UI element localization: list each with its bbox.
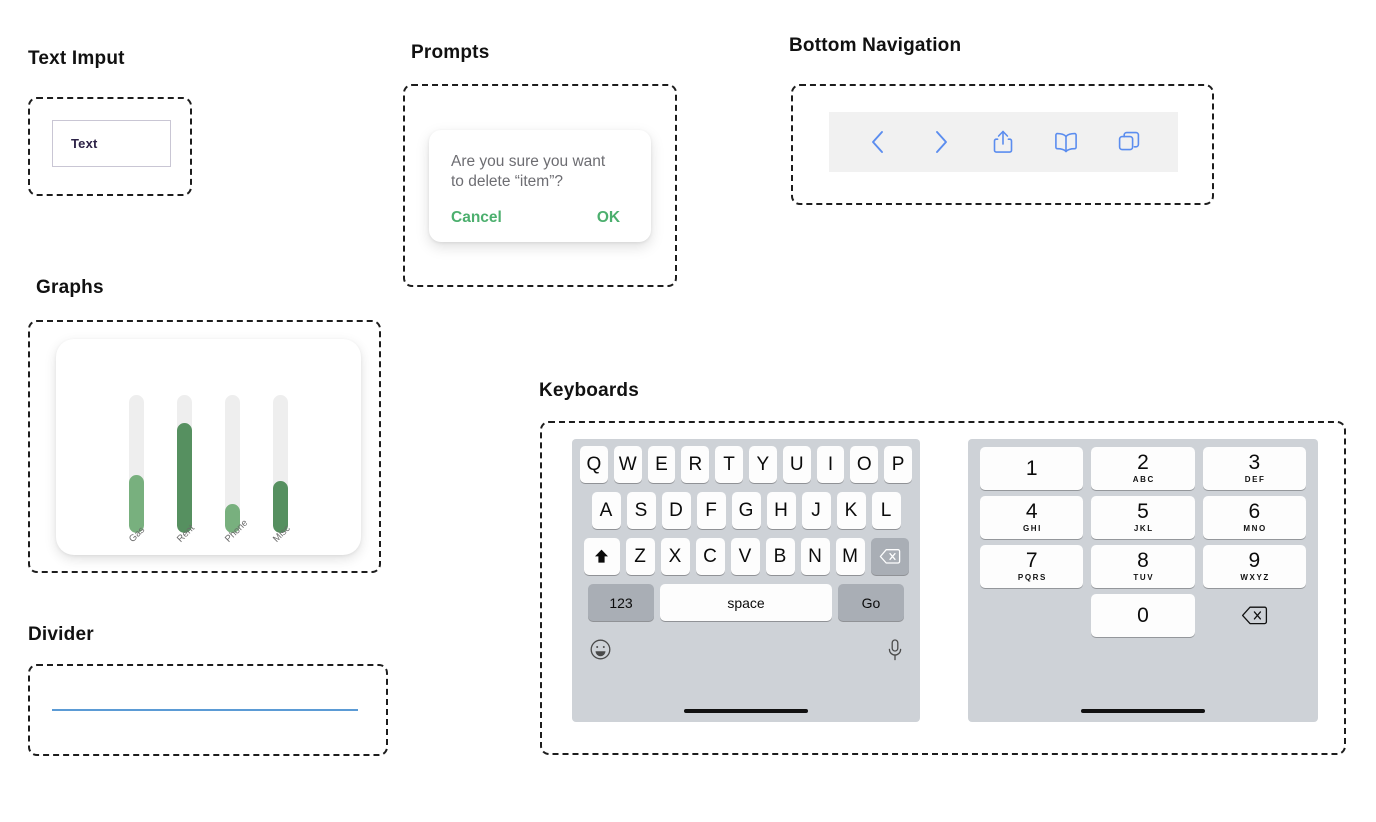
bar-track: [177, 395, 192, 533]
numpad-key-9-letters: WXYZ: [1240, 573, 1270, 582]
forward-icon[interactable]: [926, 125, 956, 159]
numpad-key-2[interactable]: 2ABC: [1091, 447, 1194, 490]
key-t[interactable]: T: [715, 446, 743, 483]
numpad-key-6-letters: MNO: [1243, 524, 1266, 533]
key-i[interactable]: I: [817, 446, 845, 483]
divider-section-frame: [28, 664, 388, 756]
numpad-key-6[interactable]: 6MNO: [1203, 496, 1306, 539]
back-icon[interactable]: [863, 125, 893, 159]
key-w[interactable]: W: [614, 446, 642, 483]
numpad-key-7-letters: PQRS: [1018, 573, 1047, 582]
numeric-keyboard: 12ABC3DEF4GHI5JKL6MNO7PQRS8TUV9WXYZ 0: [968, 439, 1318, 722]
prompts-section-title: Prompts: [411, 42, 489, 64]
key-h[interactable]: H: [767, 492, 796, 529]
key-p[interactable]: P: [884, 446, 912, 483]
numpad-home-indicator: [1081, 709, 1205, 714]
qwerty-keyboard: QWERTYUIOP ASDFGHJKL ZXCVBNM 123 space G…: [572, 439, 920, 722]
graphs-section-title: Graphs: [36, 277, 104, 299]
bottom-navigation-bar: [829, 112, 1178, 172]
keyboard-row-4: 123 space Go: [577, 584, 915, 621]
bottom-navigation-section-title: Bottom Navigation: [789, 35, 961, 57]
numpad-key-2-digit: 2: [1137, 453, 1149, 473]
keyboards-section-title: Keyboards: [539, 380, 639, 402]
numpad-key-4-digit: 4: [1026, 502, 1038, 522]
numpad-key-5-digit: 5: [1137, 502, 1149, 522]
numpad-key-9-digit: 9: [1248, 551, 1260, 571]
ok-button[interactable]: OK: [597, 209, 620, 227]
text-input-section-frame: Text: [28, 97, 192, 196]
bar-chart-card: GasRentPhoneMisc: [56, 339, 361, 555]
numpad-key-8-digit: 8: [1137, 551, 1149, 571]
text-input-value: Text: [71, 136, 98, 151]
key-n[interactable]: N: [801, 538, 830, 575]
bar-column: Misc: [257, 395, 305, 533]
numpad-key-4[interactable]: 4GHI: [980, 496, 1083, 539]
go-key[interactable]: Go: [838, 584, 904, 621]
home-indicator: [684, 709, 808, 714]
graphs-section-frame: GasRentPhoneMisc: [28, 320, 381, 573]
key-g[interactable]: G: [732, 492, 761, 529]
key-b[interactable]: B: [766, 538, 795, 575]
numpad-key-0-digit: 0: [1137, 603, 1149, 629]
key-c[interactable]: C: [696, 538, 725, 575]
divider-line: [52, 709, 358, 711]
dialog-actions: Cancel OK: [451, 209, 629, 227]
prompts-section-frame: Are you sure you want to delete “item”? …: [403, 84, 677, 287]
keyboard-row-3: ZXCVBNM: [577, 538, 915, 575]
numpad-key-7-digit: 7: [1026, 551, 1038, 571]
bar-column: Gas: [113, 395, 161, 533]
numpad-key-5[interactable]: 5JKL: [1091, 496, 1194, 539]
keyboard-row-1: QWERTYUIOP: [577, 446, 915, 483]
bar-fill: [129, 475, 144, 533]
backspace-key[interactable]: [871, 538, 909, 575]
keyboard-utility-row: [577, 630, 915, 670]
divider-section-title: Divider: [28, 624, 94, 646]
emoji-icon[interactable]: [589, 638, 612, 666]
keyboard-row-2: ASDFGHJKL: [577, 492, 915, 529]
numpad-row-3: 7PQRS8TUV9WXYZ: [976, 545, 1310, 588]
key-f[interactable]: F: [697, 492, 726, 529]
bar-chart-plot: GasRentPhoneMisc: [56, 358, 361, 533]
numpad-row-1: 12ABC3DEF: [976, 447, 1310, 490]
numpad-rows: 12ABC3DEF4GHI5JKL6MNO7PQRS8TUV9WXYZ: [976, 447, 1310, 588]
numpad-key-8[interactable]: 8TUV: [1091, 545, 1194, 588]
numpad-key-5-letters: JKL: [1134, 524, 1154, 533]
key-e[interactable]: E: [648, 446, 676, 483]
numpad-key-4-letters: GHI: [1023, 524, 1042, 533]
numpad-key-7[interactable]: 7PQRS: [980, 545, 1083, 588]
numpad-key-3-letters: DEF: [1245, 475, 1266, 484]
cancel-button[interactable]: Cancel: [451, 209, 502, 227]
key-j[interactable]: J: [802, 492, 831, 529]
text-input-field[interactable]: Text: [52, 120, 171, 167]
numpad-key-3-digit: 3: [1248, 453, 1260, 473]
numpad-key-2-letters: ABC: [1133, 475, 1155, 484]
dialog-message: Are you sure you want to delete “item”?: [451, 152, 629, 193]
key-z[interactable]: Z: [626, 538, 655, 575]
numpad-key-6-digit: 6: [1248, 502, 1260, 522]
bar-fill: [177, 423, 192, 533]
numpad-key-0[interactable]: 0: [1091, 594, 1194, 637]
key-y[interactable]: Y: [749, 446, 777, 483]
numpad-row-4: 0: [976, 594, 1310, 637]
key-k[interactable]: K: [837, 492, 866, 529]
tabs-icon[interactable]: [1114, 125, 1144, 159]
shift-key[interactable]: [584, 538, 620, 575]
bar-column: Rent: [161, 395, 209, 533]
numpad-row-2: 4GHI5JKL6MNO: [976, 496, 1310, 539]
bar-column: Phone: [209, 395, 257, 533]
key-a[interactable]: A: [592, 492, 621, 529]
key-x[interactable]: X: [661, 538, 690, 575]
bar-track: [225, 395, 240, 533]
key-l[interactable]: L: [872, 492, 901, 529]
space-key[interactable]: space: [660, 584, 832, 621]
numpad-spacer: [980, 594, 1083, 637]
share-icon[interactable]: [988, 125, 1018, 159]
bar-track: [273, 395, 288, 533]
bar-track: [129, 395, 144, 533]
key-u[interactable]: U: [783, 446, 811, 483]
text-input-section-title: Text Imput: [28, 48, 125, 70]
numpad-backspace-key[interactable]: [1203, 594, 1306, 637]
key-o[interactable]: O: [850, 446, 878, 483]
keyboards-section-frame: QWERTYUIOP ASDFGHJKL ZXCVBNM 123 space G…: [540, 421, 1346, 755]
bottom-navigation-section-frame: [791, 84, 1214, 205]
key-r[interactable]: R: [681, 446, 709, 483]
key-v[interactable]: V: [731, 538, 760, 575]
key-d[interactable]: D: [662, 492, 691, 529]
key-m[interactable]: M: [836, 538, 865, 575]
numpad-key-9[interactable]: 9WXYZ: [1203, 545, 1306, 588]
numpad-key-8-letters: TUV: [1133, 573, 1154, 582]
key-s[interactable]: S: [627, 492, 656, 529]
confirm-dialog: Are you sure you want to delete “item”? …: [429, 130, 651, 242]
microphone-icon[interactable]: [887, 638, 903, 667]
numpad-key-1-digit: 1: [1026, 456, 1038, 482]
key-q[interactable]: Q: [580, 446, 608, 483]
book-icon[interactable]: [1051, 125, 1081, 159]
numpad-key-1[interactable]: 1: [980, 447, 1083, 490]
numpad-key-3[interactable]: 3DEF: [1203, 447, 1306, 490]
numbers-key[interactable]: 123: [588, 584, 654, 621]
